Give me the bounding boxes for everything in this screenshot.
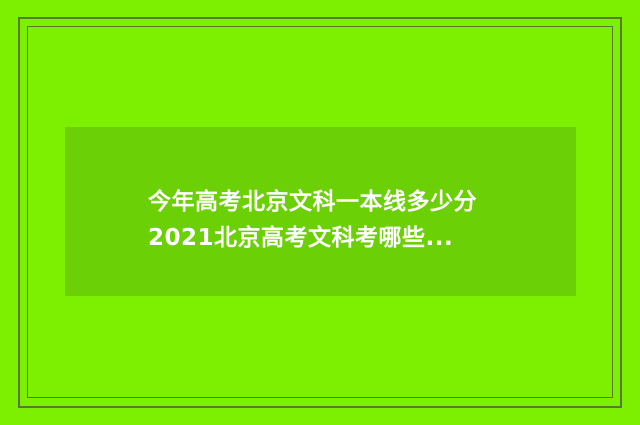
- thumbnail-card[interactable]: 今年高考北京文科一本线多少分 2021北京高考文科考哪些...: [0, 0, 640, 425]
- caption-line-2: 2021北京高考文科考哪些...: [148, 220, 568, 256]
- caption-text-block: 今年高考北京文科一本线多少分 2021北京高考文科考哪些...: [148, 184, 568, 256]
- caption-line-1: 今年高考北京文科一本线多少分: [148, 184, 568, 220]
